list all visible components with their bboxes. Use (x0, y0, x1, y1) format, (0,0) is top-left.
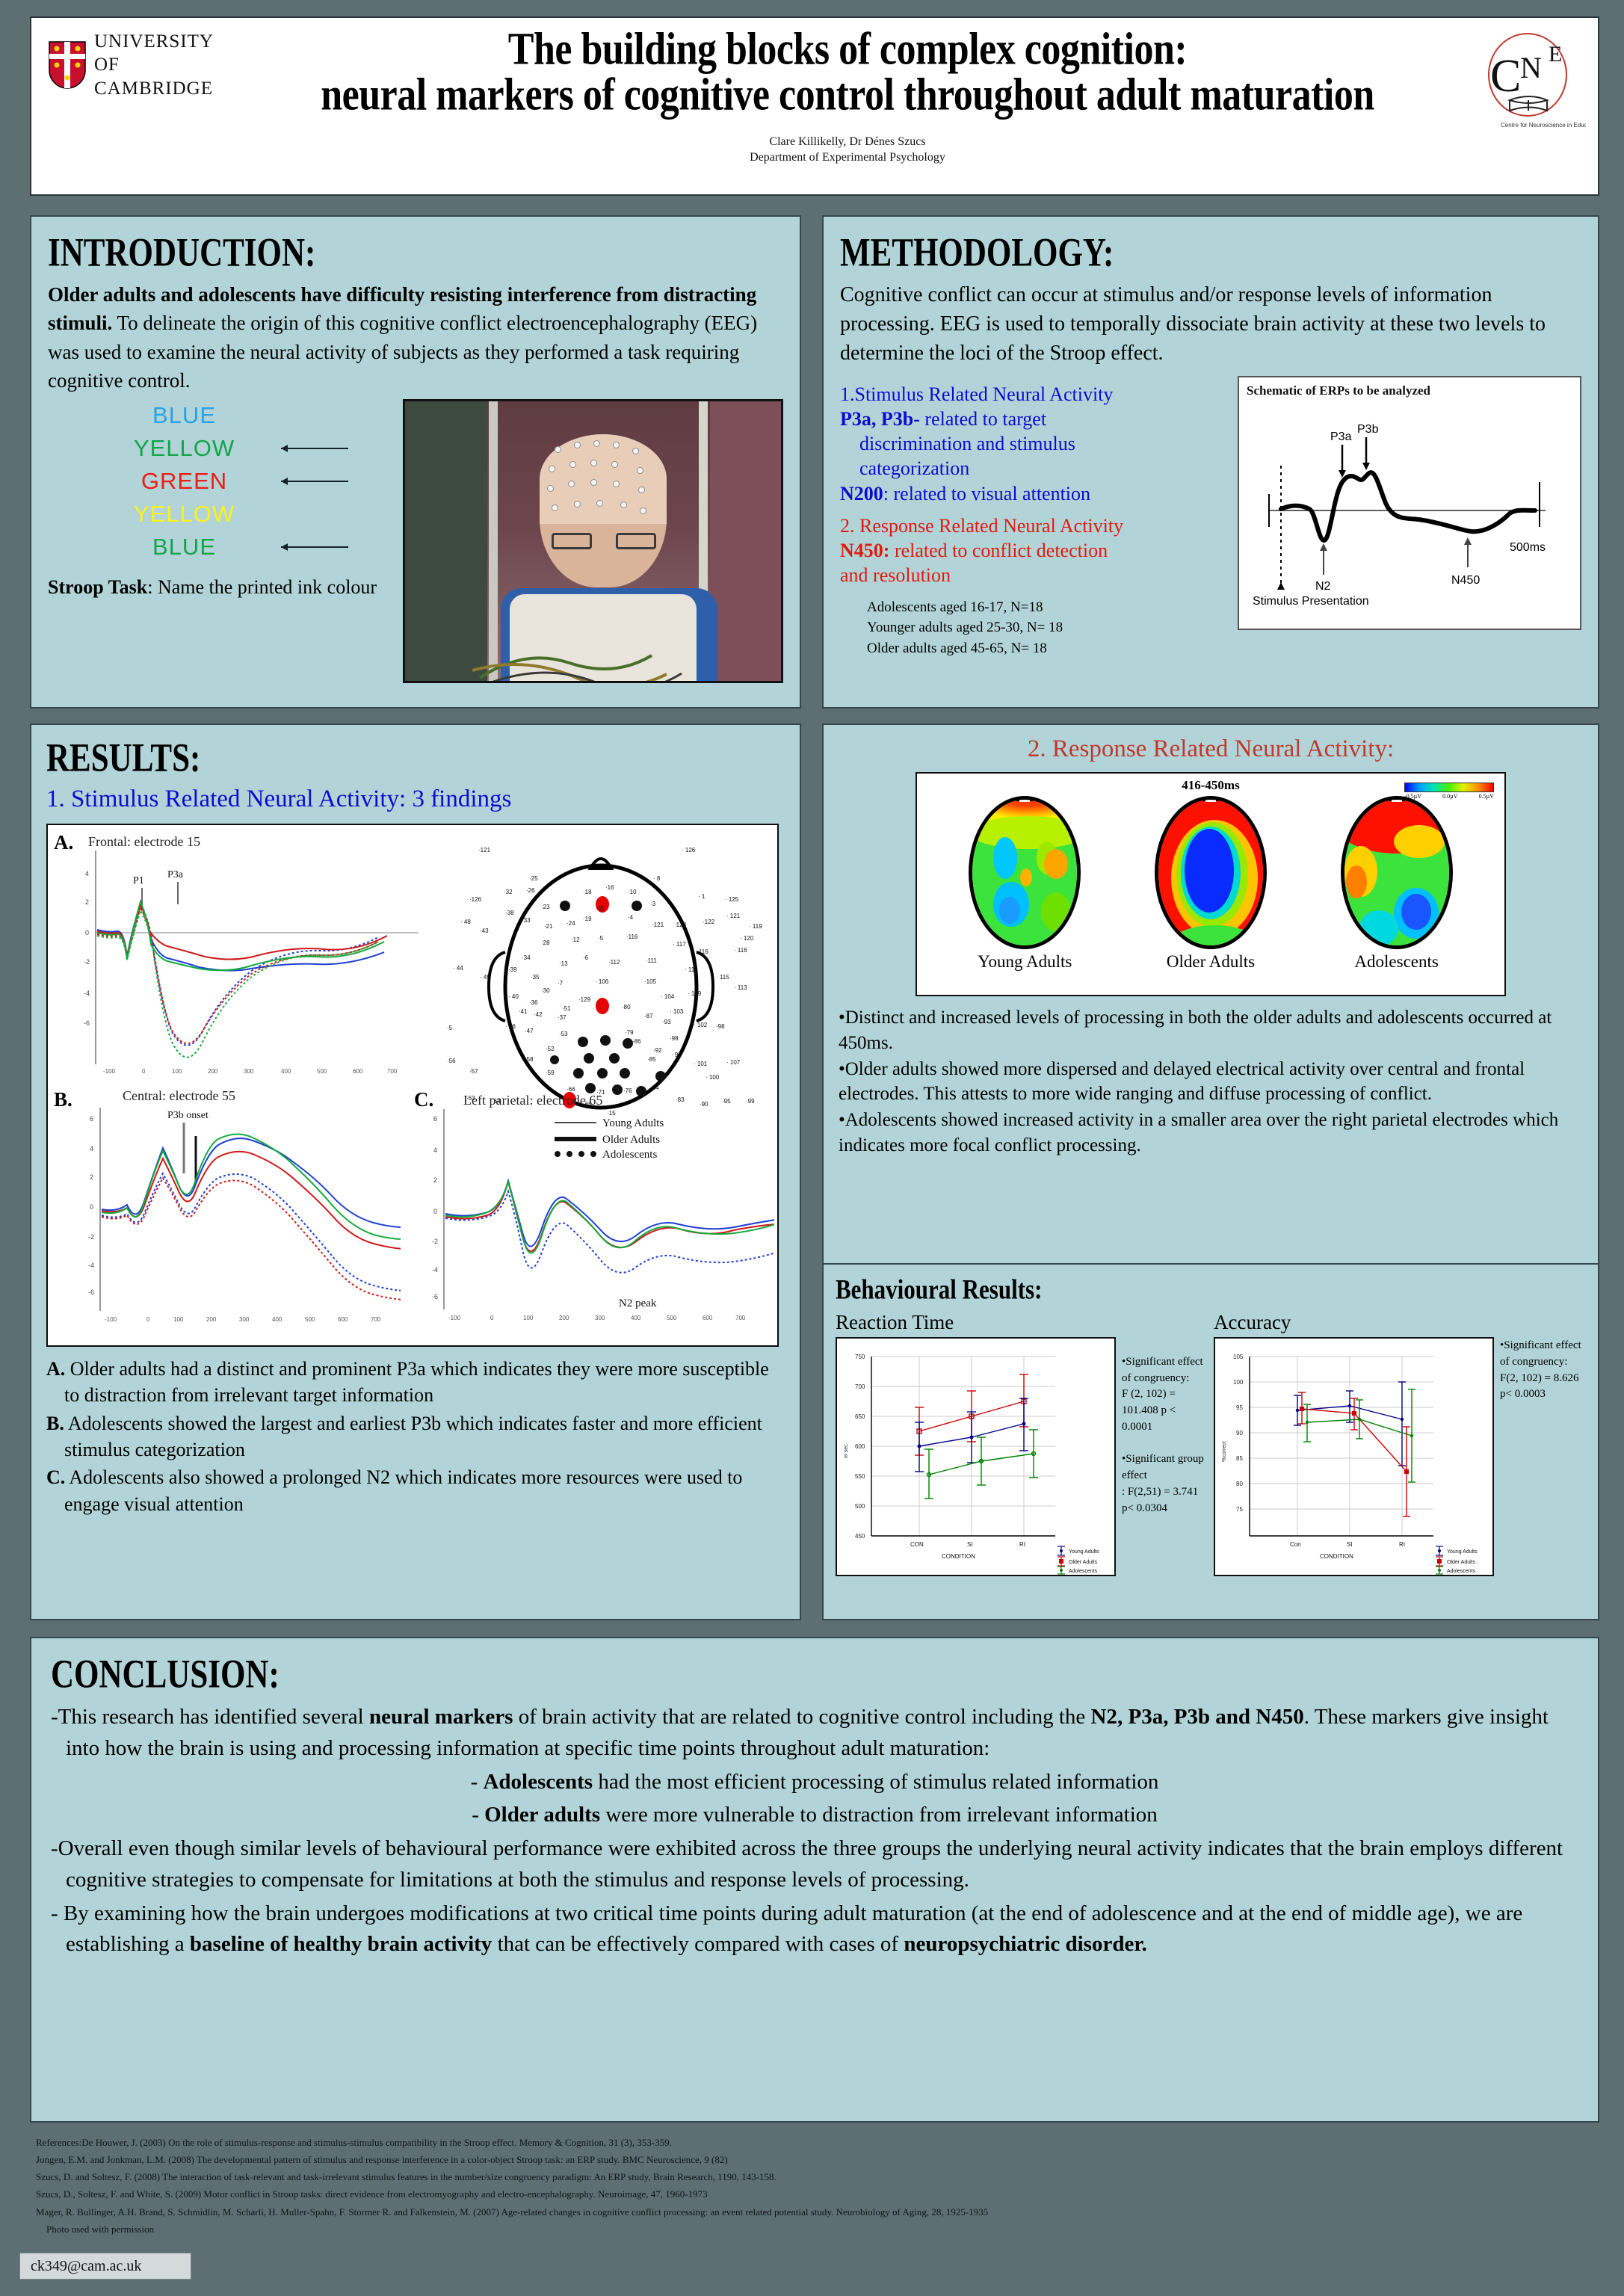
svg-text:650: 650 (855, 1413, 865, 1420)
stroop-word-list: BLUE YELLOW GREEN YELLOW BLUE Stroop Tas… (48, 399, 398, 683)
results-panel: RESULTS: 1. Stimulus Related Neural Acti… (30, 723, 801, 1620)
conclusion-p1-d: N2, P3a, P3b and N450 (1091, 1705, 1304, 1729)
svg-text:·92: ·92 (653, 1047, 662, 1054)
svg-text:300: 300 (595, 1315, 605, 1321)
conclusion-p2-bullet: - (471, 1770, 484, 1794)
svg-text:450: 450 (855, 1533, 865, 1540)
svg-text:·79: ·79 (625, 1029, 634, 1036)
svg-text:· 106: · 106 (595, 978, 609, 985)
svg-text:300: 300 (239, 1316, 250, 1323)
eeg-participant-photo (403, 399, 783, 683)
reaction-time-plot: 750700650 600550500450 m sec (837, 1339, 1114, 1575)
rt-xtick-con: CON (910, 1541, 924, 1548)
svg-text:·111: ·111 (646, 957, 657, 964)
svg-text:·98: ·98 (670, 1035, 679, 1042)
svg-text:· 44: · 44 (453, 965, 463, 972)
response-bullet-1: •Distinct and increased levels of proces… (839, 1005, 1583, 1056)
conclusion-panel: CONCLUSION: -This research has identifie… (30, 1637, 1599, 2123)
accuracy-chart: 10510095 90858075 %correct (1214, 1337, 1494, 1576)
reference-line: Mager, R. Bullinger, A.H. Brand, S. Schm… (36, 2203, 1531, 2221)
acc-xtick-si: SI (1347, 1541, 1353, 1548)
svg-text:·98: ·98 (716, 1023, 725, 1030)
svg-text:700: 700 (735, 1315, 746, 1321)
svg-text:-4: -4 (84, 990, 90, 997)
poster-title-bar: UNIVERSITY OF CAMBRIDGE The building blo… (30, 16, 1599, 196)
stroop-word: YELLOW (99, 435, 271, 462)
topo-label-adolescents: Adolescents (1326, 952, 1468, 972)
svg-text:·129: ·129 (578, 996, 591, 1003)
svg-text:0: 0 (90, 1203, 93, 1211)
finding-c-text: Adolescents also showed a prolonged N2 w… (64, 1466, 742, 1514)
department: Department of Experimental Psychology (232, 149, 1463, 166)
stroop-word: GREEN (99, 468, 271, 495)
n200-desc: : related to visual attention (883, 483, 1090, 504)
author-block: Clare Killikelly, Dr Dénes Szucs Departm… (232, 134, 1463, 166)
panel-a-letter: A. (54, 831, 73, 854)
svg-text:·80: ·80 (622, 1004, 631, 1010)
panel-c-plot: 6420 -2-4-6 N2 peak -1000100200 30040050… (423, 1106, 774, 1335)
svg-text:·5: ·5 (598, 935, 604, 942)
svg-text:500: 500 (667, 1315, 677, 1321)
svg-text:·84: ·84 (650, 1084, 659, 1091)
stroop-arrow-icon (281, 546, 348, 548)
svg-text:·93: ·93 (662, 1019, 671, 1025)
cne-logo: C N E Centre for Neuroscience in Educati… (1463, 18, 1598, 141)
rt-legend-adolescents: Adolescents (1069, 1569, 1098, 1574)
finding-a: A. Older adults had a distinct and promi… (46, 1356, 785, 1409)
svg-text:400: 400 (631, 1315, 641, 1321)
svg-text:· 126: · 126 (682, 847, 696, 854)
cambridge-logo: UNIVERSITY OF CAMBRIDGE (31, 18, 232, 100)
svg-text:·121: ·121 (478, 847, 491, 854)
svg-text:700: 700 (387, 1068, 398, 1075)
topo-map-older-adults: Older Adults (1140, 796, 1282, 972)
electrode-montage-diagram: ·121· 126 ·25· 8 ·32·126· 1· 125 ·26·18·… (436, 840, 765, 1117)
erp-label-500ms: 500ms (1510, 541, 1546, 554)
svg-text:· 113: · 113 (734, 984, 747, 991)
svg-text:-2: -2 (432, 1238, 438, 1245)
acc-stats-text: •Significant effect of congruency: F(2, … (1500, 1339, 1581, 1400)
erp-label-p3a: P3a (1330, 430, 1352, 443)
stroop-word: BLUE (99, 402, 271, 429)
svg-text:200: 200 (208, 1068, 218, 1075)
svg-text:· 116: · 116 (734, 947, 747, 954)
svg-text:·112: ·112 (608, 959, 620, 966)
svg-text:700: 700 (855, 1383, 865, 1390)
svg-text:4: 4 (90, 1145, 93, 1152)
svg-text:·34: ·34 (522, 954, 531, 961)
conclusion-p2: - Adolescents had the most efficient pro… (51, 1767, 1578, 1798)
svg-text:750: 750 (855, 1354, 865, 1360)
panel-b-mark: P3b onset (167, 1110, 209, 1121)
finding-b: B. Adolescents showed the largest and ea… (46, 1410, 785, 1463)
svg-text:0: 0 (142, 1068, 146, 1075)
introduction-text: Older adults and adolescents have diffic… (48, 280, 783, 395)
topo-label-young-adults: Young Adults (954, 952, 1096, 972)
behavioural-results-panel: Behavioural Results: Reaction Time 75070… (822, 1263, 1599, 1620)
svg-text:·12: ·12 (571, 936, 580, 943)
svg-text:75: 75 (1236, 1506, 1243, 1513)
conclusion-p3-bullet: - (472, 1803, 484, 1827)
response-heading: 2. Response Related Neural Activity: (839, 735, 1583, 763)
results-findings: A. Older adults had a distinct and promi… (46, 1356, 785, 1517)
svg-text:C: C (1490, 51, 1521, 102)
svg-text:600: 600 (353, 1068, 363, 1075)
n450-label: N450: (840, 540, 889, 561)
acc-xtick-con: Con (1290, 1541, 1301, 1548)
svg-text:· 103: · 103 (670, 1008, 684, 1015)
svg-text:·19: ·19 (583, 916, 592, 922)
svg-text:· 100: · 100 (706, 1074, 720, 1081)
accuracy-plot: 10510095 90858075 %correct (1215, 1339, 1492, 1575)
stroop-row: YELLOW (48, 432, 398, 465)
p3a-p3b-desc: related to target (920, 408, 1046, 430)
svg-text:200: 200 (206, 1316, 217, 1323)
conclusion-p3-b: Older adults (484, 1803, 600, 1827)
svg-text:2: 2 (90, 1173, 93, 1181)
svg-text:· 91: · 91 (671, 1052, 682, 1058)
erp-label-n2: N2 (1315, 580, 1331, 593)
svg-text:200: 200 (559, 1315, 569, 1321)
svg-text:·59: ·59 (546, 1070, 555, 1076)
svg-text:· 121: · 121 (726, 913, 741, 919)
stroop-word: BLUE (99, 534, 271, 561)
svg-text:90: 90 (1236, 1430, 1243, 1436)
svg-text:·3: ·3 (650, 901, 656, 907)
topo-label-older-adults: Older Adults (1140, 952, 1282, 972)
svg-text:-6: -6 (88, 1289, 94, 1296)
acc-x-axis-label: CONDITION (1320, 1553, 1353, 1560)
svg-text:·30: ·30 (541, 987, 550, 994)
methodology-panel: METHODOLOGY: Cognitive conflict can occu… (822, 215, 1599, 709)
svg-text:·121: ·121 (652, 922, 664, 928)
svg-text:·7: ·7 (558, 980, 564, 987)
head-map-adolescents (1341, 796, 1453, 949)
svg-text:·18: ·18 (583, 889, 592, 895)
topo-map-adolescents: Adolescents (1326, 796, 1468, 972)
reference-line: References:De Houwer, J. (2003) On the r… (36, 2134, 1531, 2151)
svg-text:· 107: · 107 (726, 1059, 741, 1066)
finding-c-label: C. (46, 1466, 65, 1488)
svg-text:·53: ·53 (559, 1031, 568, 1037)
svg-text:·37: ·37 (558, 1014, 566, 1021)
acc-y-axis-label: %correct (1222, 1441, 1227, 1462)
poster-title-line2: neural markers of cognitive control thro… (232, 68, 1463, 122)
svg-text:-100: -100 (103, 1068, 116, 1075)
rt-x-axis-label: CONDITION (942, 1553, 975, 1560)
svg-text:·123: ·123 (674, 922, 687, 928)
svg-text:-2: -2 (84, 958, 90, 966)
reference-line: Szucs, D. and Soltesz, F. (2008) The int… (36, 2168, 1531, 2185)
svg-text:· 120: · 120 (740, 935, 754, 942)
reaction-time-chart: 750700650 600550500450 m sec (836, 1337, 1116, 1576)
svg-text:·32: ·32 (504, 889, 513, 895)
stroop-caption: Stroop Task: Name the printed ink colour (48, 574, 398, 600)
svg-text:N: N (1520, 51, 1542, 84)
svg-text:·56: ·56 (447, 1058, 456, 1064)
contact-email-button[interactable]: ck349@cam.ac.uk (19, 2253, 191, 2280)
svg-text:·4: ·4 (628, 914, 634, 921)
results-subheading: 1. Stimulus Related Neural Activity: 3 f… (46, 786, 785, 813)
conclusion-p1-c: of brain activity that are related to co… (513, 1705, 1090, 1729)
svg-text:4: 4 (85, 870, 89, 877)
topo-map-young-adults: Young Adults (954, 796, 1096, 972)
reaction-time-block: Reaction Time 750700650 600550500450 (836, 1311, 1116, 1576)
panel-a-mark-p3a: P3a (167, 869, 184, 880)
panel-b-plot: 6420 -2-4-6 P3b onset -1000100200 300400… (79, 1105, 401, 1336)
svg-text:·52: ·52 (546, 1046, 555, 1052)
svg-text:500: 500 (855, 1503, 865, 1510)
svg-text:·33: ·33 (522, 917, 531, 924)
panel-c-mark: N2 peak (619, 1297, 657, 1309)
svg-text:95: 95 (1236, 1404, 1243, 1411)
acc-legend-adolescents: Adolescents (1447, 1569, 1476, 1574)
stroop-task-text: : Name the printed ink colour (147, 576, 377, 598)
conclusion-p1-a: -This research has identified several (51, 1705, 369, 1729)
svg-text:85: 85 (1236, 1455, 1243, 1462)
authors: Clare Killikelly, Dr Dénes Szucs (232, 134, 1463, 150)
conclusion-p2-b: Adolescents (483, 1770, 593, 1794)
response-bullet-2: •Older adults showed more dispersed and … (839, 1057, 1583, 1108)
methodology-section2-title: 2. Response Related Neural Activity (840, 513, 1230, 538)
svg-text:105: 105 (1233, 1354, 1244, 1360)
svg-text:· 118: · 118 (685, 966, 698, 973)
acc-legend: Young Adults Older Adults Adolescents (1436, 1546, 1478, 1574)
svg-text:100: 100 (173, 1316, 184, 1323)
nose-icon (1202, 796, 1219, 801)
svg-text:-100: -100 (448, 1315, 461, 1321)
panel-b-title: Central: electrode 55 (123, 1088, 235, 1104)
panel-a-mark-p1: P1 (133, 875, 144, 886)
photo-permission-note: Photo used with permission (36, 2221, 1531, 2238)
svg-text:400: 400 (281, 1068, 291, 1075)
svg-text:0: 0 (433, 1208, 437, 1215)
rt-y-axis-label: m sec (844, 1444, 849, 1458)
subject-group-adolescents: Adolescents aged 16-17, N=18 (867, 597, 1230, 618)
svg-text:· 117: · 117 (673, 941, 686, 948)
rt-legend: Young Adults Older Adults Adolescents (1058, 1546, 1099, 1574)
p3a-p3b-label: P3a, P3b- (840, 408, 920, 430)
conclusion-p5-b: baseline of healthy brain activity (190, 1932, 492, 1956)
svg-text:2: 2 (433, 1176, 437, 1184)
svg-text:-100: -100 (105, 1316, 117, 1323)
stroop-row: YELLOW (48, 498, 398, 531)
svg-text:·43: ·43 (480, 928, 489, 934)
accuracy-title: Accuracy (1214, 1311, 1494, 1334)
svg-text:-6: -6 (84, 1019, 90, 1027)
svg-text:· 46: · 46 (505, 1023, 516, 1030)
svg-text:· 49: · 49 (480, 974, 490, 981)
n450-cont: and resolution (840, 563, 1230, 587)
cambridge-crest-icon (48, 40, 87, 90)
svg-text:·85: ·85 (647, 1056, 656, 1063)
rt-legend-young: Young Adults (1069, 1549, 1099, 1555)
svg-text:80: 80 (1236, 1481, 1243, 1487)
svg-text:-4: -4 (88, 1262, 94, 1269)
n200-label: N200 (840, 483, 883, 504)
erp-schematic-figure: Schematic of ERPs to be analyzed P3a P3b… (1238, 376, 1581, 630)
subject-group-younger-adults: Younger adults aged 25-30, N= 18 (867, 617, 1230, 638)
cne-logo-icon: C N E Centre for Neuroscience in Educati… (1474, 28, 1586, 141)
svg-text:·24: ·24 (566, 920, 575, 927)
svg-text:500: 500 (317, 1068, 327, 1075)
svg-text:0: 0 (490, 1315, 494, 1321)
svg-text:300: 300 (244, 1068, 254, 1075)
conclusion-p1: -This research has identified several ne… (51, 1702, 1578, 1765)
introduction-heading: INTRODUCTION: (48, 230, 783, 276)
svg-text:·39: ·39 (508, 966, 517, 973)
conclusion-p5-c: that can be effectively compared with ca… (492, 1932, 904, 1956)
finding-a-text: Older adults had a distinct and prominen… (64, 1358, 769, 1406)
svg-text:·16: ·16 (605, 884, 614, 891)
title-block: The building blocks of complex cognition… (232, 18, 1463, 166)
nose-icon (1016, 796, 1033, 801)
methodology-section1-title: 1.Stimulus Related Neural Activity (840, 382, 1230, 407)
response-bullets: •Distinct and increased levels of proces… (839, 1005, 1583, 1158)
conclusion-p2-rest: had the most efficient processing of sti… (593, 1770, 1158, 1794)
svg-text:· 116: · 116 (695, 948, 708, 955)
svg-text:550: 550 (855, 1473, 865, 1480)
svg-text:·57: ·57 (469, 1068, 478, 1075)
svg-text:700: 700 (371, 1316, 381, 1323)
svg-text:·51: ·51 (562, 1005, 571, 1012)
topographic-maps-figure: 416-450ms -0.5µV 0.0µV 0.5µV (916, 772, 1506, 996)
rt-xtick-si: SI (967, 1541, 973, 1548)
svg-text:600: 600 (338, 1316, 348, 1323)
svg-text:·35: ·35 (531, 974, 540, 981)
methodology-section2: 2. Response Related Neural Activity N450… (840, 513, 1230, 588)
stroop-task-label: Stroop Task (48, 576, 147, 598)
head-map-older (1155, 796, 1267, 949)
cambridge-logo-text: UNIVERSITY OF CAMBRIDGE (94, 30, 232, 100)
svg-text:· 125: · 125 (725, 896, 739, 903)
panel-a-plot: 420 -2-4-6 P1 P3a -1000100 200300400 500… (73, 846, 424, 1078)
svg-text:4: 4 (433, 1147, 437, 1154)
rt-xtick-ri: RI (1019, 1541, 1025, 1548)
svg-text:·38: ·38 (505, 910, 514, 916)
methodology-heading: METHODOLOGY: (840, 230, 1581, 276)
svg-text:2: 2 (85, 898, 89, 906)
behavioural-heading: Behavioural Results: (836, 1274, 1586, 1306)
svg-text:E: E (1549, 42, 1562, 67)
svg-text:·21: ·21 (544, 923, 553, 930)
svg-text:·41: ·41 (519, 1008, 528, 1015)
nose-icon (1389, 796, 1405, 801)
p3a-p3b-cont2: categorization (840, 456, 1230, 481)
cne-caption: Centre for Neuroscience in Education (1501, 122, 1586, 129)
svg-text:0: 0 (85, 929, 89, 936)
svg-text:100: 100 (172, 1068, 182, 1075)
erp-waveforms-figure: A. Frontal: electrode 15 420 -2-4-6 P1 P… (46, 824, 779, 1347)
svg-text:100: 100 (1233, 1379, 1244, 1386)
svg-text:·11: ·11 (596, 905, 605, 912)
svg-text:·76: ·76 (623, 1087, 632, 1094)
svg-text:-4: -4 (432, 1266, 438, 1274)
erp-label-p3b: P3b (1357, 423, 1379, 436)
conclusion-heading: CONCLUSION: (51, 1652, 1578, 1697)
response-bullet-3: •Adolescents showed increased activity i… (839, 1108, 1583, 1158)
stroop-row: BLUE (48, 531, 398, 564)
svg-text:·105: ·105 (644, 978, 657, 985)
svg-text:·99: ·99 (746, 1098, 755, 1105)
svg-text:600: 600 (703, 1315, 713, 1321)
svg-text:· 91: · 91 (658, 1071, 668, 1078)
svg-text:·10: ·10 (628, 889, 637, 895)
panel-b-letter: B. (54, 1088, 72, 1111)
svg-text:·122: ·122 (703, 919, 715, 925)
reference-line: Szucs, D., Soltesz, F. and White, S. (20… (36, 2185, 1531, 2203)
finding-b-text: Adolescents showed the largest and earli… (64, 1413, 762, 1460)
accuracy-stats: •Significant effect of congruency: F(2, … (1500, 1311, 1586, 1576)
svg-text:·66: ·66 (566, 1086, 575, 1093)
svg-text:6: 6 (90, 1115, 93, 1123)
subject-groups: Adolescents aged 16-17, N=18 Younger adu… (840, 597, 1230, 659)
erp-label-stimulus-presentation: Stimulus Presentation (1253, 595, 1369, 608)
svg-text:·5: ·5 (447, 1025, 453, 1031)
stroop-row: GREEN (48, 465, 398, 498)
svg-text:·116: ·116 (626, 933, 638, 940)
reference-line: Jongen, E.M. and Jonkman, L.M. (2008) Th… (36, 2151, 1531, 2168)
results-heading: RESULTS: (46, 735, 785, 781)
svg-text:·13: ·13 (559, 960, 568, 967)
svg-text:· 101: · 101 (694, 1061, 708, 1067)
svg-text:·26: ·26 (526, 887, 535, 894)
erp-schematic-plot: P3a P3b N2 N450 500ms Stimulus Presentat… (1247, 398, 1575, 623)
finding-c: C. Adolescents also showed a prolonged N… (46, 1464, 785, 1517)
svg-text:·42: ·42 (534, 1011, 543, 1018)
rt-legend-older: Older Adults (1069, 1560, 1098, 1565)
svg-text:·58: ·58 (525, 1056, 534, 1063)
svg-text:-2: -2 (88, 1233, 94, 1241)
svg-text:·47: ·47 (525, 1028, 534, 1034)
stroop-row: BLUE (48, 399, 398, 432)
svg-text:·95: ·95 (722, 1098, 731, 1105)
svg-text:·28: ·28 (541, 939, 550, 946)
svg-text:· 102: · 102 (694, 1022, 708, 1028)
svg-text:· 1: · 1 (698, 893, 706, 900)
svg-text:·23: ·23 (541, 904, 550, 910)
svg-text:·126: ·126 (469, 896, 482, 903)
svg-text:· 48: · 48 (460, 919, 471, 925)
references-block: References:De Houwer, J. (2003) On the r… (36, 2134, 1531, 2238)
methodology-section1: 1.Stimulus Related Neural Activity P3a, … (840, 382, 1230, 506)
university-line1: UNIVERSITY OF (94, 31, 213, 75)
acc-xtick-ri: RI (1399, 1541, 1405, 1548)
acc-legend-young: Young Adults (1447, 1549, 1478, 1555)
svg-text:·25: ·25 (529, 875, 538, 882)
finding-b-label: B. (46, 1413, 64, 1434)
reaction-time-title: Reaction Time (836, 1311, 1116, 1334)
svg-text:·86: ·86 (632, 1038, 641, 1045)
svg-text:· 109: · 109 (688, 990, 702, 997)
stroop-word: YELLOW (99, 501, 271, 528)
conclusion-body: -This research has identified several ne… (51, 1702, 1578, 1960)
stroop-arrow-icon (281, 481, 348, 482)
conclusion-p3: - Older adults were more vulnerable to d… (51, 1800, 1578, 1831)
acc-legend-older: Older Adults (1447, 1560, 1476, 1565)
svg-text:· 40: · 40 (508, 993, 519, 1000)
conclusion-p3-rest: were more vulnerable to distraction from… (600, 1803, 1158, 1827)
rt-stats-text: •Significant effect of congruency: F (2,… (1122, 1356, 1204, 1514)
svg-text:0: 0 (146, 1316, 150, 1323)
erp-schematic-title: Schematic of ERPs to be analyzed (1247, 383, 1572, 398)
introduction-rest: To delineate the origin of this cognitiv… (48, 312, 757, 392)
accuracy-block: Accuracy 10510095 90858075 (1214, 1311, 1494, 1576)
reaction-time-stats: •Significant effect of congruency: F (2,… (1122, 1311, 1208, 1576)
introduction-panel: INTRODUCTION: Older adults and adolescen… (30, 215, 801, 709)
svg-text:100: 100 (523, 1315, 534, 1321)
svg-text:· 119: · 119 (749, 923, 762, 930)
